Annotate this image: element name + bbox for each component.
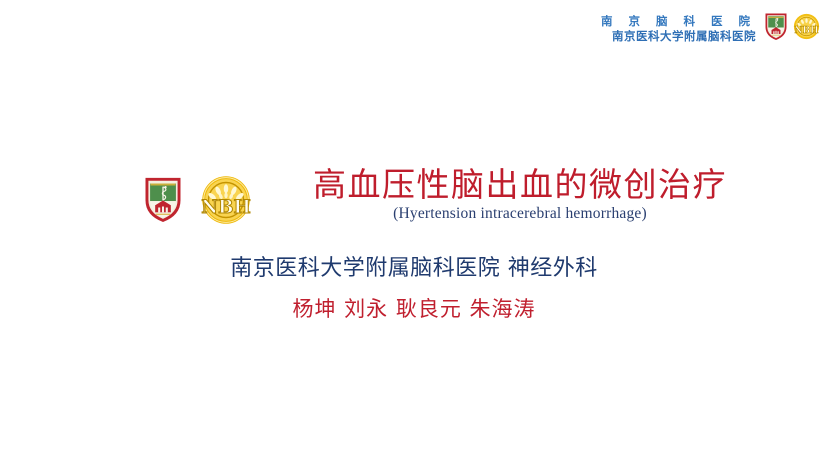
svg-text:NBH: NBH [201,196,251,217]
header-name-line-2: 南京医科大学附属脑科医院 [612,30,756,43]
nbh-circular-emblem-icon: NBH [793,13,820,45]
slide-title-english: (Hyertension intracerebral hemorrhage) [260,205,780,223]
title-block: 高血压性脑出血的微创治疗 (Hyertension intracerebral … [260,166,780,223]
slide-title-chinese: 高血压性脑出血的微创治疗 [260,166,780,204]
center-logo-group: NBH [143,172,251,232]
header-name-line-1: 南 京 脑 科 医 院 [601,15,756,28]
hospital-shield-crest-icon-large [143,172,183,232]
header-hospital-name: 南 京 脑 科 医 院 南京医科大学附属脑科医院 [601,15,756,43]
affiliation-text: 南京医科大学附属脑科医院 神经外科 [0,250,828,282]
header-logo-group: NBH [764,12,820,46]
nbh-circular-emblem-icon-large: NBH [201,175,251,230]
hospital-shield-crest-icon [764,12,788,46]
affiliation-block: 南京医科大学附属脑科医院 神经外科 杨坤 刘永 耿良元 朱海涛 [0,250,828,323]
authors-text: 杨坤 刘永 耿良元 朱海涛 [0,293,828,323]
svg-text:NBH: NBH [794,26,819,36]
slide-header: 南 京 脑 科 医 院 南京医科大学附属脑科医院 [601,12,820,46]
